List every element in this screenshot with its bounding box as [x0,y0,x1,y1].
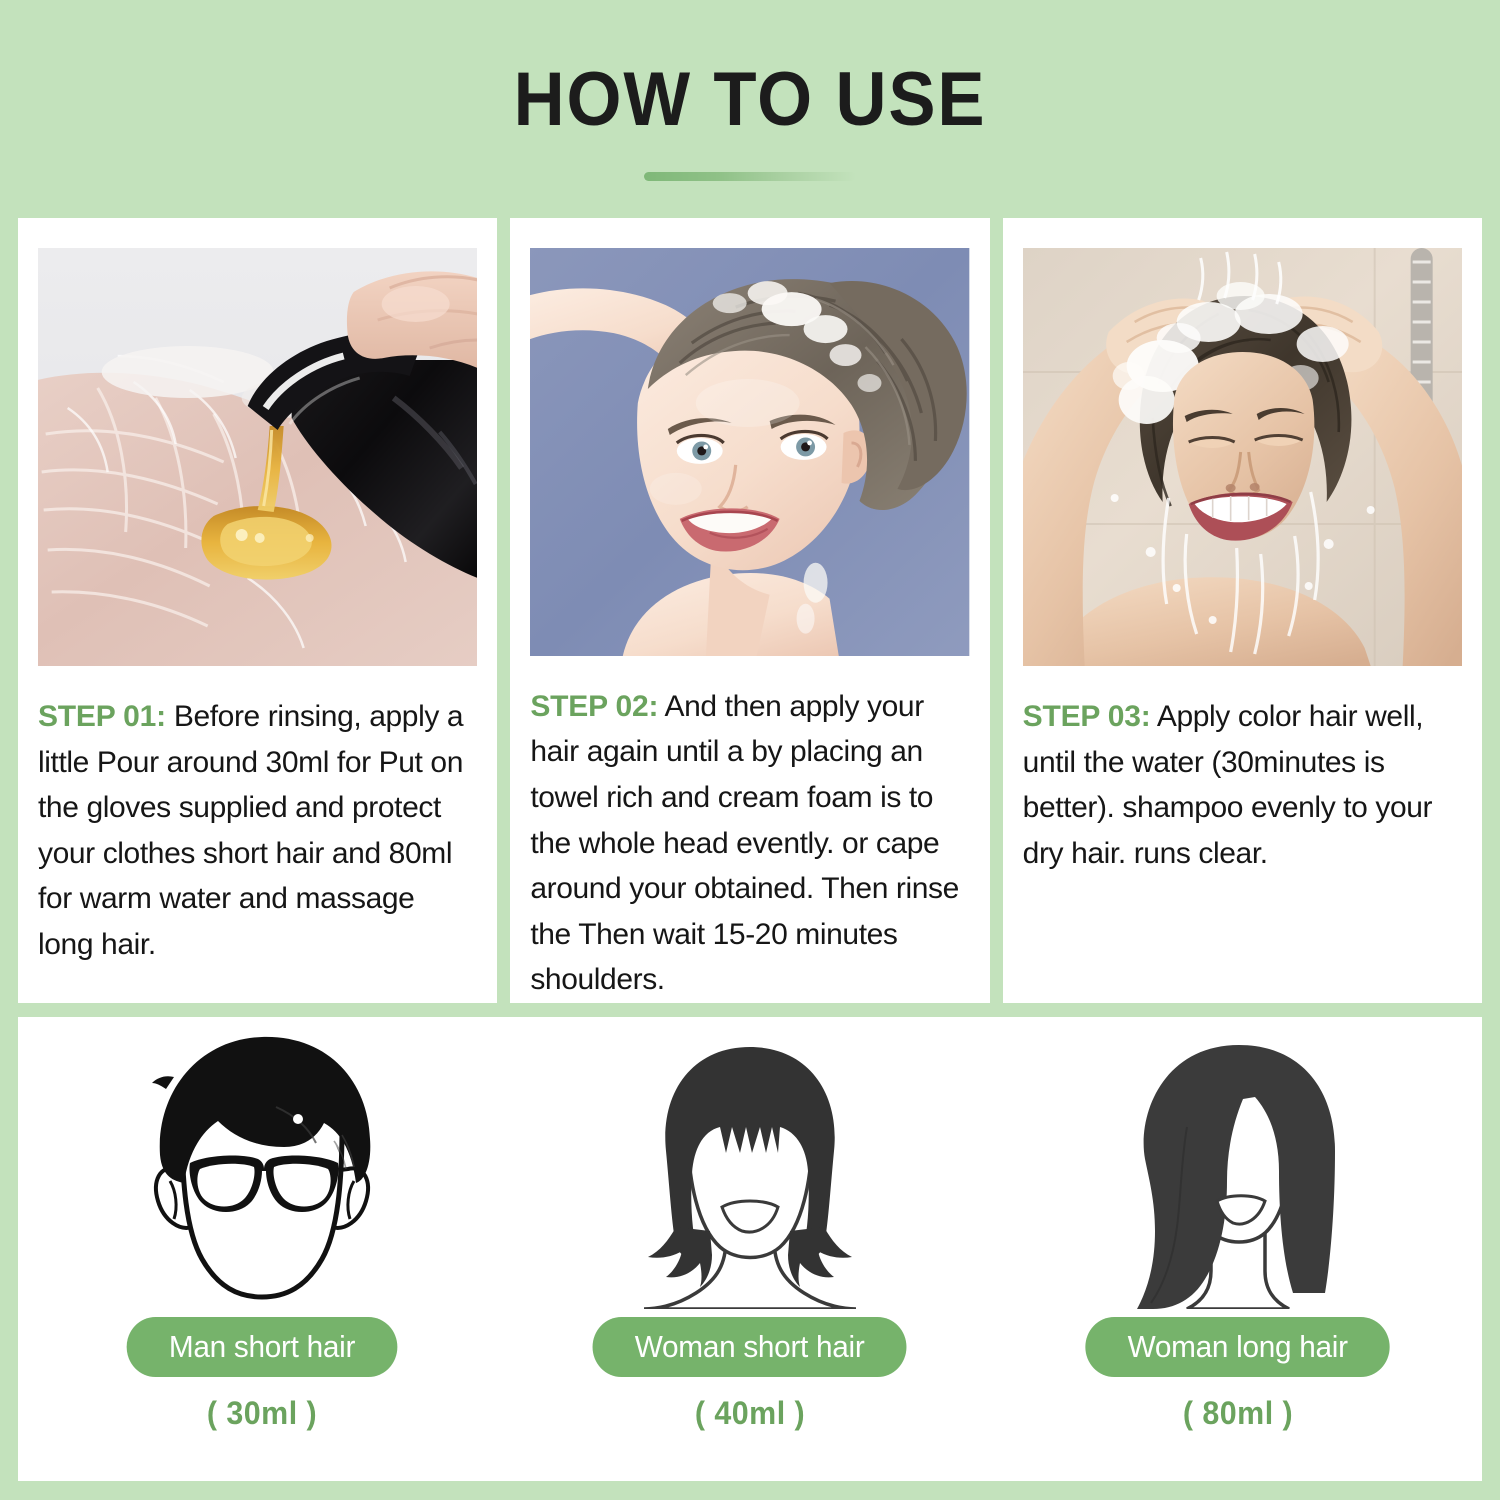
step-01-body: Before rinsing, apply a little Pour arou… [38,700,463,961]
hair-type-label-woman-short: Woman short hair [593,1317,907,1377]
man-short-hair-icon [136,1031,388,1309]
step-03-label: STEP 03: [1023,700,1151,733]
page-header: HOW TO USE [0,0,1500,181]
title-underline-divider [644,172,856,181]
hair-type-label-man-short: Man short hair [127,1317,398,1377]
step-card-03: STEP 03: Apply color hair well, until th… [1003,218,1482,1003]
step-card-01: STEP 01: Before rinsing, apply a little … [18,218,497,1003]
page-title: HOW TO USE [53,62,1448,138]
hair-type-woman-short: Woman short hair ( 40ml ) [506,1017,994,1481]
step-01-label: STEP 01: [38,700,166,733]
step-01-text: STEP 01: Before rinsing, apply a little … [38,694,477,968]
step-02-photo [530,248,969,656]
step-03-text: STEP 03: Apply color hair well, until th… [1023,694,1462,876]
hair-volume-woman-short: ( 40ml ) [695,1395,805,1432]
hair-type-man-short: Man short hair ( 30ml ) [18,1017,506,1481]
step-02-label: STEP 02: [530,690,658,723]
hair-volume-woman-long: ( 80ml ) [1183,1395,1293,1432]
step-02-text: STEP 02: And then apply your hair again … [530,684,969,1003]
step-03-photo [1023,248,1462,666]
hair-volume-man-short: ( 30ml ) [207,1395,317,1432]
hair-type-woman-long: Woman long hair ( 80ml ) [994,1017,1482,1481]
step-card-02: STEP 02: And then apply your hair again … [510,218,989,1003]
hair-type-panel: Man short hair ( 30ml ) Woman short hair… [18,1017,1482,1481]
steps-row: STEP 01: Before rinsing, apply a little … [18,218,1482,1003]
woman-short-hair-icon [630,1031,870,1309]
woman-long-hair-icon [1123,1031,1353,1309]
step-02-body: And then apply your hair again until a b… [530,690,959,997]
step-01-photo [38,248,477,666]
hair-type-label-woman-long: Woman long hair [1086,1317,1391,1377]
